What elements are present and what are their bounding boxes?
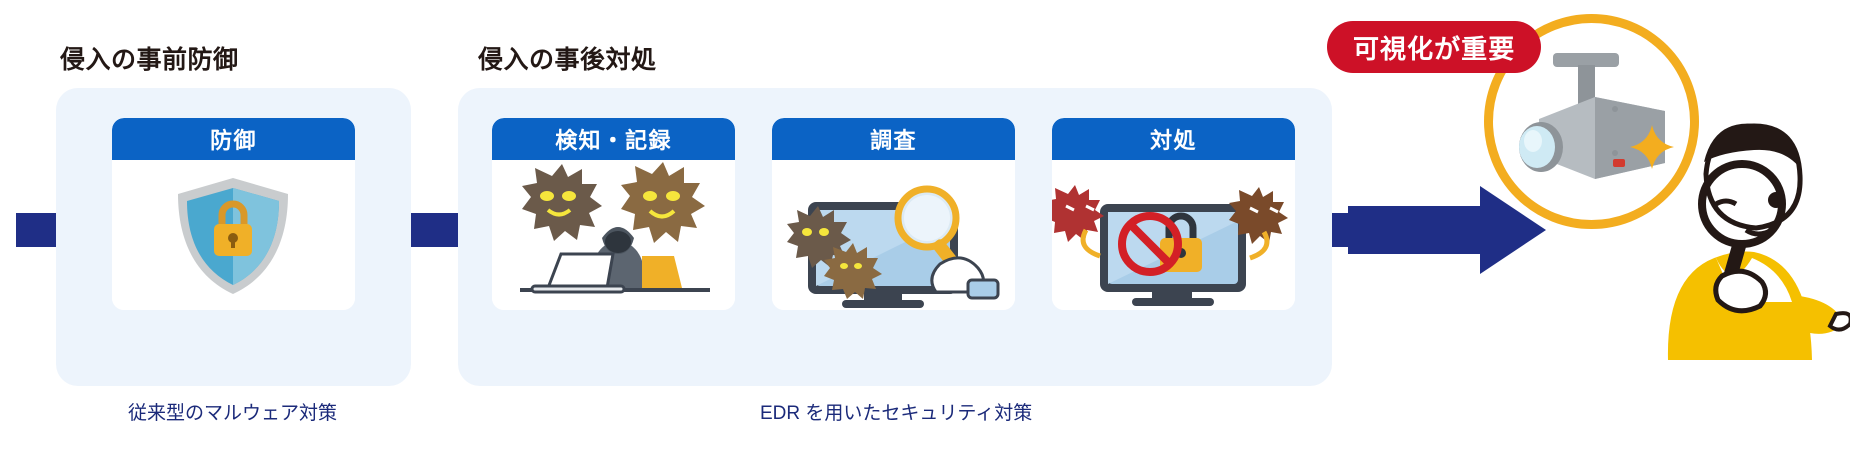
caption-post: EDR を用いたセキュリティ対策	[760, 398, 1032, 425]
card-respond-illustration	[1052, 160, 1295, 310]
card-protect[interactable]: 防御	[112, 118, 355, 310]
malware-blob-left-small	[1052, 185, 1104, 242]
card-detect-title: 検知・記録	[555, 123, 672, 155]
monitor-magnifier-icon	[772, 160, 1015, 310]
shield-lock-icon	[112, 160, 355, 310]
caption-pre: 従来型のマルウェア対策	[128, 398, 337, 425]
visibility-badge-label: 可視化が重要	[1353, 29, 1515, 66]
hacker-malware-icon	[492, 160, 735, 310]
card-detect-header: 検知・記録	[492, 118, 735, 160]
card-detect[interactable]: 検知・記録	[492, 118, 735, 310]
blocked-lock-icon	[1052, 160, 1295, 310]
laptop-icon	[532, 254, 624, 292]
card-protect-illustration	[112, 160, 355, 310]
hand-icon	[932, 258, 998, 298]
card-detect-illustration	[492, 160, 735, 310]
card-investigate-header: 調査	[772, 118, 1015, 160]
person-with-magnifier-icon	[1650, 100, 1850, 360]
section-label-post: 侵入の事後対処	[478, 40, 657, 76]
flow-arrow-shaft	[1348, 206, 1498, 254]
malware-blob-right	[621, 162, 705, 243]
card-investigate[interactable]: 調査	[772, 118, 1015, 310]
card-investigate-illustration	[772, 160, 1015, 310]
card-respond-title: 対処	[1150, 123, 1197, 155]
card-protect-title: 防御	[210, 123, 257, 155]
card-protect-header: 防御	[112, 118, 355, 160]
card-investigate-title: 調査	[870, 123, 917, 155]
section-label-pre: 侵入の事前防御	[60, 40, 239, 76]
visibility-badge: 可視化が重要	[1327, 21, 1541, 73]
card-respond[interactable]: 対処	[1052, 118, 1295, 310]
malware-blob-left	[522, 164, 602, 241]
diagram-canvas: 侵入の事前防御 侵入の事後対処 防御 検知・記録	[0, 0, 1850, 449]
card-respond-header: 対処	[1052, 118, 1295, 160]
